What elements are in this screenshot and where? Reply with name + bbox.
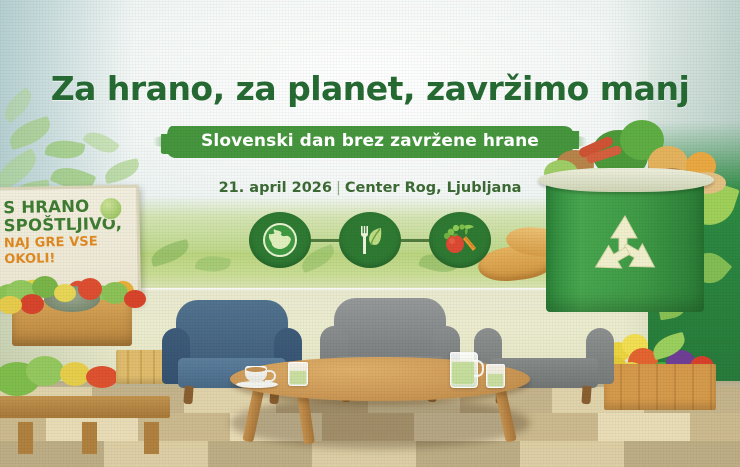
produce-crate-left xyxy=(0,276,170,426)
event-poster: Za hrano, za planet, zavržimo manj Slove… xyxy=(0,0,740,467)
subtitle-banner-label: Slovenski dan brez zavržene hrane xyxy=(201,131,539,151)
bin-rim xyxy=(538,168,714,192)
dateline-separator: | xyxy=(332,180,345,196)
water-pitcher xyxy=(450,352,480,386)
coffee-cup xyxy=(236,366,278,388)
crate-box xyxy=(604,364,716,410)
vegetables-icon xyxy=(429,212,491,268)
water-glass-right xyxy=(486,364,505,388)
wooden-bench xyxy=(0,396,170,418)
recycle-icon xyxy=(585,212,665,288)
subtitle-banner: Slovenski dan brez zavržene hrane xyxy=(167,126,573,158)
produce-crate-right xyxy=(604,340,716,410)
table-floor-shadow xyxy=(230,397,530,449)
water-glass-left xyxy=(288,362,308,386)
icon-connector-2 xyxy=(401,239,429,242)
globe-icon xyxy=(249,212,311,268)
page-title: Za hrano, za planet, zavržimo manj xyxy=(0,72,740,105)
fork-leaf-icon xyxy=(339,212,401,268)
event-date: 21. april 2026 xyxy=(219,180,332,196)
sign-line-3: NAJ GRE VSE OKOLI! xyxy=(4,234,130,268)
event-venue: Center Rog, Ljubljana xyxy=(345,180,522,196)
icon-connector-1 xyxy=(311,239,339,242)
